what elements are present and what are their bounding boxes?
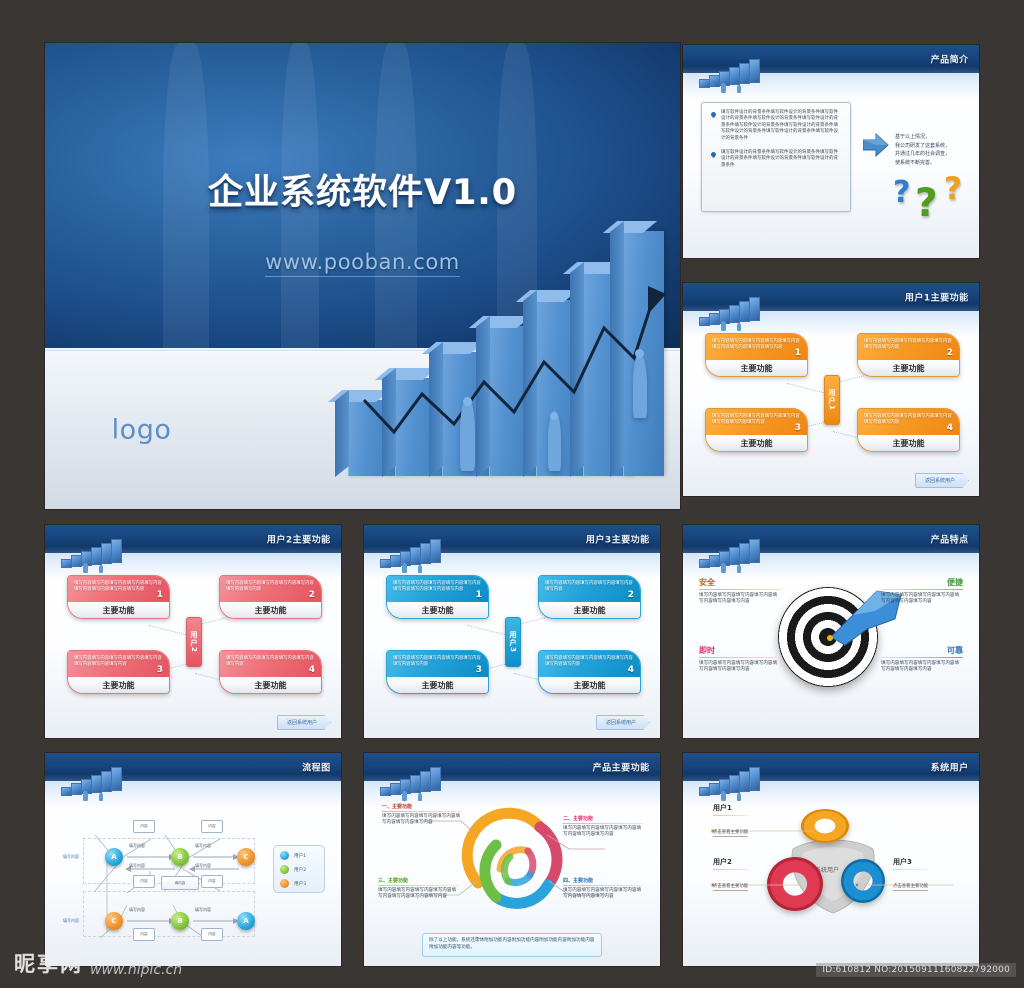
function-card-number: 3: [157, 665, 163, 675]
slide-header-title: 系统用户: [931, 761, 969, 774]
poster-canvas: 企业系统软件V1.0 www.pooban.com logo 产品简介 填写软件…: [0, 0, 1024, 988]
slide-header-title: 产品简介: [931, 53, 969, 66]
feature-block-reliable: 可靠 填写内容填写内容填写内容填写内容填写内容填写内容填写内容: [881, 645, 963, 674]
slide-product-intro[interactable]: 产品简介 填写软件设计的背景条件填写软件设计的背景条件填写软件设计的背景条件填写…: [683, 45, 979, 258]
image-id-text: ID:610812 NO:20150911160822792000: [816, 963, 1016, 977]
question-mark-blue-icon: ?: [893, 175, 910, 210]
function-card-body: 填写内容填写内容填写内容填写内容填写内容填写内容: [226, 656, 315, 668]
mainfunc-block-1: 一、主要功能 填写内容填写内容填写内容填写内容填写内容填写内容填写内容: [382, 803, 462, 827]
mainfunc-body: 填写内容填写内容填写内容填写内容填写内容填写内容填写内容: [563, 888, 643, 901]
function-card-label: 主要功能: [255, 605, 287, 616]
feature-body: 填写内容填写内容填写内容填写内容填写内容填写内容填写内容: [881, 593, 963, 606]
function-card[interactable]: 填写内容填写内容填写内容填写内容填写内容填写内容填写内容 2 主要功能: [219, 575, 322, 619]
legend-item: 用户2: [280, 865, 318, 874]
function-card-number: 2: [628, 590, 634, 600]
person-figure-icon: [460, 397, 475, 471]
right-arrow-icon: [863, 133, 889, 157]
slide-system-users[interactable]: 系统用户 系统用户 用户1: [683, 753, 979, 966]
feature-block-convenient: 便捷 填写内容填写内容填写内容填写内容填写内容填写内容填写内容: [881, 577, 963, 606]
back-to-system-users-button[interactable]: 返回系统用户: [915, 473, 969, 488]
sysuser-link-1[interactable]: 点击查看主要功能: [713, 829, 748, 837]
slide-header: 用户1主要功能: [683, 283, 979, 311]
function-card[interactable]: 填写内容填写内容填写内容填写内容填写内容填写内容填写内容填写内容填写内容 1 主…: [705, 333, 808, 377]
function-card-number: 2: [947, 348, 953, 358]
function-card-number: 1: [157, 590, 163, 600]
legend: 用户1 用户2 用户3: [273, 845, 325, 893]
intro-bullet-2: 填写软件设计的背景条件填写软件设计的背景条件填写软件设计的背景条件填写软件设计的…: [710, 150, 842, 169]
sysuser-link-3[interactable]: 点击查看主要功能: [893, 883, 928, 891]
flow-edge-label: 填写内容: [195, 843, 211, 849]
mainfunc-block-2: 二、主要功能 填写内容填写内容填写内容填写内容填写内容填写内容填写内容: [563, 815, 643, 839]
function-card-label: 主要功能: [422, 605, 454, 616]
intro-bullet-1: 填写软件设计的背景条件填写软件设计的背景条件填写软件设计的背景条件填写软件设计的…: [710, 110, 842, 142]
sysuser-label-3[interactable]: 用户3 点击查看主要功能: [893, 857, 928, 891]
function-card-number: 4: [309, 665, 315, 675]
feature-block-security: 安全 填写内容填写内容填写内容填写内容填写内容填写内容填写内容: [699, 577, 781, 606]
function-card-label: 主要功能: [574, 605, 606, 616]
page-title: 企业系统软件V1.0: [45, 164, 680, 215]
function-card[interactable]: 填写内容填写内容填写内容填写内容填写内容填写内容填写内容 3 主要功能: [386, 650, 489, 694]
slide-header: 产品特点: [683, 525, 979, 553]
function-card-label: 主要功能: [893, 438, 925, 449]
slide-header: 流程图: [45, 753, 341, 781]
function-card[interactable]: 填写内容填写内容填写内容填写内容填写内容填写内容填写内容 4 主要功能: [857, 408, 960, 452]
feature-title: 即时: [699, 645, 781, 656]
logo: logo: [112, 414, 172, 445]
function-card-body: 填写内容填写内容填写内容填写内容填写内容填写内容填写内容填写内容: [74, 656, 163, 668]
slide-user3-functions[interactable]: 用户3主要功能 填写内容填写内容填写内容填写内容填写内容填写内容填写内容填写内容…: [364, 525, 660, 738]
function-card-number: 2: [309, 590, 315, 600]
hub-label: 用户1: [827, 389, 837, 411]
flow-box: 内容: [133, 820, 155, 833]
slide-header: 用户2主要功能: [45, 525, 341, 553]
function-card-label: 主要功能: [574, 680, 606, 691]
feature-body: 填写内容填写内容填写内容填写内容填写内容填写内容填写内容: [699, 661, 781, 674]
function-card-label: 主要功能: [741, 363, 773, 374]
function-card-body: 填写内容填写内容填写内容填写内容填写内容填写内容填写内容: [393, 656, 482, 668]
flow-edge-label: 填写内容: [195, 907, 211, 913]
slide-header-title: 用户3主要功能: [586, 533, 650, 546]
hub-badge: 用户1: [824, 375, 840, 425]
flow-center-box: 填内容: [161, 876, 199, 890]
function-card-body: 填写内容填写内容填写内容填写内容填写内容填写内容填写内容填写内容填写内容: [393, 581, 482, 593]
flow-node-b2[interactable]: B: [171, 912, 189, 930]
slide-header: 系统用户: [683, 753, 979, 781]
bar-chart-illustration: [348, 186, 678, 476]
function-card-number: 1: [476, 590, 482, 600]
hub-badge: 用户3: [505, 617, 521, 667]
mainfunc-title: 二、主要功能: [563, 815, 643, 822]
function-card-body: 填写内容填写内容填写内容填写内容填写内容填写内容填写内容: [864, 414, 953, 426]
flow-edge-label: 填写内容: [129, 907, 145, 913]
mainfunc-title: 三、主要功能: [378, 877, 458, 884]
function-card-body: 填写内容填写内容填写内容填写内容填写内容填写内容填写内容: [226, 581, 315, 593]
intro-right-text: 基于以上情况， 我公司研发了这套系统， 并通过几年的社会调查， 使系统不断完善。: [895, 133, 973, 167]
flow-box: 内容: [201, 928, 223, 941]
feature-block-instant: 即时 填写内容填写内容填写内容填写内容填写内容填写内容填写内容: [699, 645, 781, 674]
mainfunc-body: 填写内容填写内容填写内容填写内容填写内容填写内容填写内容: [382, 814, 462, 827]
legend-item: 用户1: [280, 851, 318, 860]
slide-user2-functions[interactable]: 用户2主要功能 填写内容填写内容填写内容填写内容填写内容填写内容填写内容填写内容…: [45, 525, 341, 738]
mainfunc-block-4: 四、主要功能 填写内容填写内容填写内容填写内容填写内容填写内容填写内容: [563, 877, 643, 901]
person-figure-icon: [633, 354, 647, 418]
slide-header: 产品简介: [683, 45, 979, 73]
flow-side-label: 填写内容: [63, 854, 79, 860]
watermark-url-text: www.nipic.cn: [90, 962, 182, 978]
flow-node-b[interactable]: B: [171, 848, 189, 866]
flow-box: 内容: [133, 875, 155, 888]
sysuser-link-2[interactable]: 点击查看主要功能: [713, 883, 748, 891]
mainfunc-note-box: 除了以上功能，系统还需休附加功能内容附加功能内容附加功能内容附加功能内容附加功能…: [422, 933, 602, 957]
feature-title: 安全: [699, 577, 781, 588]
site-url[interactable]: www.pooban.com: [45, 250, 680, 274]
function-card[interactable]: 填写内容填写内容填写内容填写内容填写内容填写内容填写内容填写内容 3 主要功能: [67, 650, 170, 694]
function-card[interactable]: 填写内容填写内容填写内容填写内容填写内容填写内容填写内容填写内容填写内容 1 主…: [67, 575, 170, 619]
function-card-body: 填写内容填写内容填写内容填写内容填写内容填写内容: [545, 581, 634, 593]
question-mark-orange-icon: ?: [944, 171, 962, 207]
function-card-number: 1: [795, 348, 801, 358]
feature-title: 可靠: [881, 645, 963, 656]
function-card[interactable]: 填写内容填写内容填写内容填写内容填写内容填写内容 4 主要功能: [219, 650, 322, 694]
feature-body: 填写内容填写内容填写内容填写内容填写内容填写内容填写内容: [699, 593, 781, 606]
function-card-label: 主要功能: [103, 605, 135, 616]
trend-arrow-icon: [348, 186, 678, 476]
function-card[interactable]: 填写内容填写内容填写内容填写内容填写内容填写内容填写内容 4 主要功能: [538, 650, 641, 694]
function-card-number: 3: [476, 665, 482, 675]
question-mark-green-icon: ?: [915, 181, 938, 226]
slide-title[interactable]: 企业系统软件V1.0 www.pooban.com logo: [45, 43, 680, 509]
function-card-label: 主要功能: [422, 680, 454, 691]
sysuser-label-2[interactable]: 用户2 点击查看主要功能: [713, 857, 748, 891]
mainfunc-title: 一、主要功能: [382, 803, 462, 810]
function-card-body: 填写内容填写内容填写内容填写内容填写内容填写内容填写内容填写内容填写内容: [74, 581, 163, 593]
function-card[interactable]: 填写内容填写内容填写内容填写内容填写内容填写内容填写内容填写内容填写内容 1 主…: [386, 575, 489, 619]
mainfunc-title: 四、主要功能: [563, 877, 643, 884]
slide-header-title: 用户1主要功能: [905, 291, 969, 304]
slide-header: 产品主要功能: [364, 753, 660, 781]
function-card-body: 填写内容填写内容填写内容填写内容填写内容填写内容填写内容填写内容: [712, 414, 801, 426]
sysuser-label-1[interactable]: 用户1 点击查看主要功能: [713, 803, 748, 837]
function-card-label: 主要功能: [741, 438, 773, 449]
watermark-cn-text: 昵享网: [14, 948, 83, 978]
flow-edge-label: 填写内容: [195, 863, 211, 869]
function-card-label: 主要功能: [103, 680, 135, 691]
mainfunc-body: 填写内容填写内容填写内容填写内容填写内容填写内容填写内容: [563, 826, 643, 839]
feature-body: 填写内容填写内容填写内容填写内容填写内容填写内容填写内容: [881, 661, 963, 674]
slide-header-title: 流程图: [302, 761, 331, 774]
hub-badge: 用户2: [186, 617, 202, 667]
flow-node-a2[interactable]: A: [237, 912, 255, 930]
mainfunc-body: 填写内容填写内容填写内容填写内容填写内容填写内容填写内容填写内容: [378, 888, 458, 901]
slide-header: 用户3主要功能: [364, 525, 660, 553]
back-to-system-users-button[interactable]: 返回系统用户: [277, 715, 331, 730]
function-card-body: 填写内容填写内容填写内容填写内容填写内容填写内容填写内容: [864, 339, 953, 351]
flow-side-label: 填写内容: [63, 918, 79, 924]
back-to-system-users-button[interactable]: 返回系统用户: [596, 715, 650, 730]
flow-box: 内容: [201, 875, 223, 888]
function-card[interactable]: 填写内容填写内容填写内容填写内容填写内容填写内容 2 主要功能: [538, 575, 641, 619]
function-card[interactable]: 填写内容填写内容填写内容填写内容填写内容填写内容填写内容 2 主要功能: [857, 333, 960, 377]
slide-header-title: 产品主要功能: [593, 761, 650, 774]
flow-edge-label: 填写内容: [129, 843, 145, 849]
flow-box: 内容: [201, 820, 223, 833]
intro-text-box: 填写软件设计的背景条件填写软件设计的背景条件填写软件设计的背景条件填写软件设计的…: [701, 102, 851, 212]
flow-node-c2[interactable]: C: [105, 912, 123, 930]
slide-header-title: 用户2主要功能: [267, 533, 331, 546]
function-card[interactable]: 填写内容填写内容填写内容填写内容填写内容填写内容填写内容填写内容 3 主要功能: [705, 408, 808, 452]
function-card-body: 填写内容填写内容填写内容填写内容填写内容填写内容填写内容: [545, 656, 634, 668]
slide-product-features[interactable]: 产品特点 安全 填写内容填写内容填写内容填写内容填写内容填写内容填写内容 便捷: [683, 525, 979, 738]
function-card-body: 填写内容填写内容填写内容填写内容填写内容填写内容填写内容填写内容填写内容: [712, 339, 801, 351]
watermark: 昵享网 www.nipic.cn: [14, 948, 182, 978]
function-card-number: 4: [947, 423, 953, 433]
function-card-number: 4: [628, 665, 634, 675]
function-card-label: 主要功能: [893, 363, 925, 374]
flow-edge-label: 填写内容: [129, 863, 145, 869]
flow-node-a[interactable]: A: [105, 848, 123, 866]
function-card-label: 主要功能: [255, 680, 287, 691]
legend-item: 用户3: [280, 879, 318, 888]
function-card-number: 3: [795, 423, 801, 433]
slide-flowchart[interactable]: 流程图: [45, 753, 341, 966]
mainfunc-block-3: 三、主要功能 填写内容填写内容填写内容填写内容填写内容填写内容填写内容填写内容: [378, 877, 458, 901]
slide-user1-functions[interactable]: 用户1主要功能 填写内容填写内容填写内容填写内容填写内容填写内容填写内容填写内容…: [683, 283, 979, 496]
hub-label: 用户2: [189, 631, 199, 653]
slide-header-title: 产品特点: [931, 533, 969, 546]
slide-main-functions[interactable]: 产品主要功能: [364, 753, 660, 966]
mainfunc-note-text: 除了以上功能，系统还需休附加功能内容附加功能内容附加功能内容附加功能内容附加功能…: [429, 938, 595, 951]
flow-box: 内容: [133, 928, 155, 941]
flow-node-c[interactable]: C: [237, 848, 255, 866]
hub-label: 用户3: [508, 631, 518, 653]
feature-title: 便捷: [881, 577, 963, 588]
